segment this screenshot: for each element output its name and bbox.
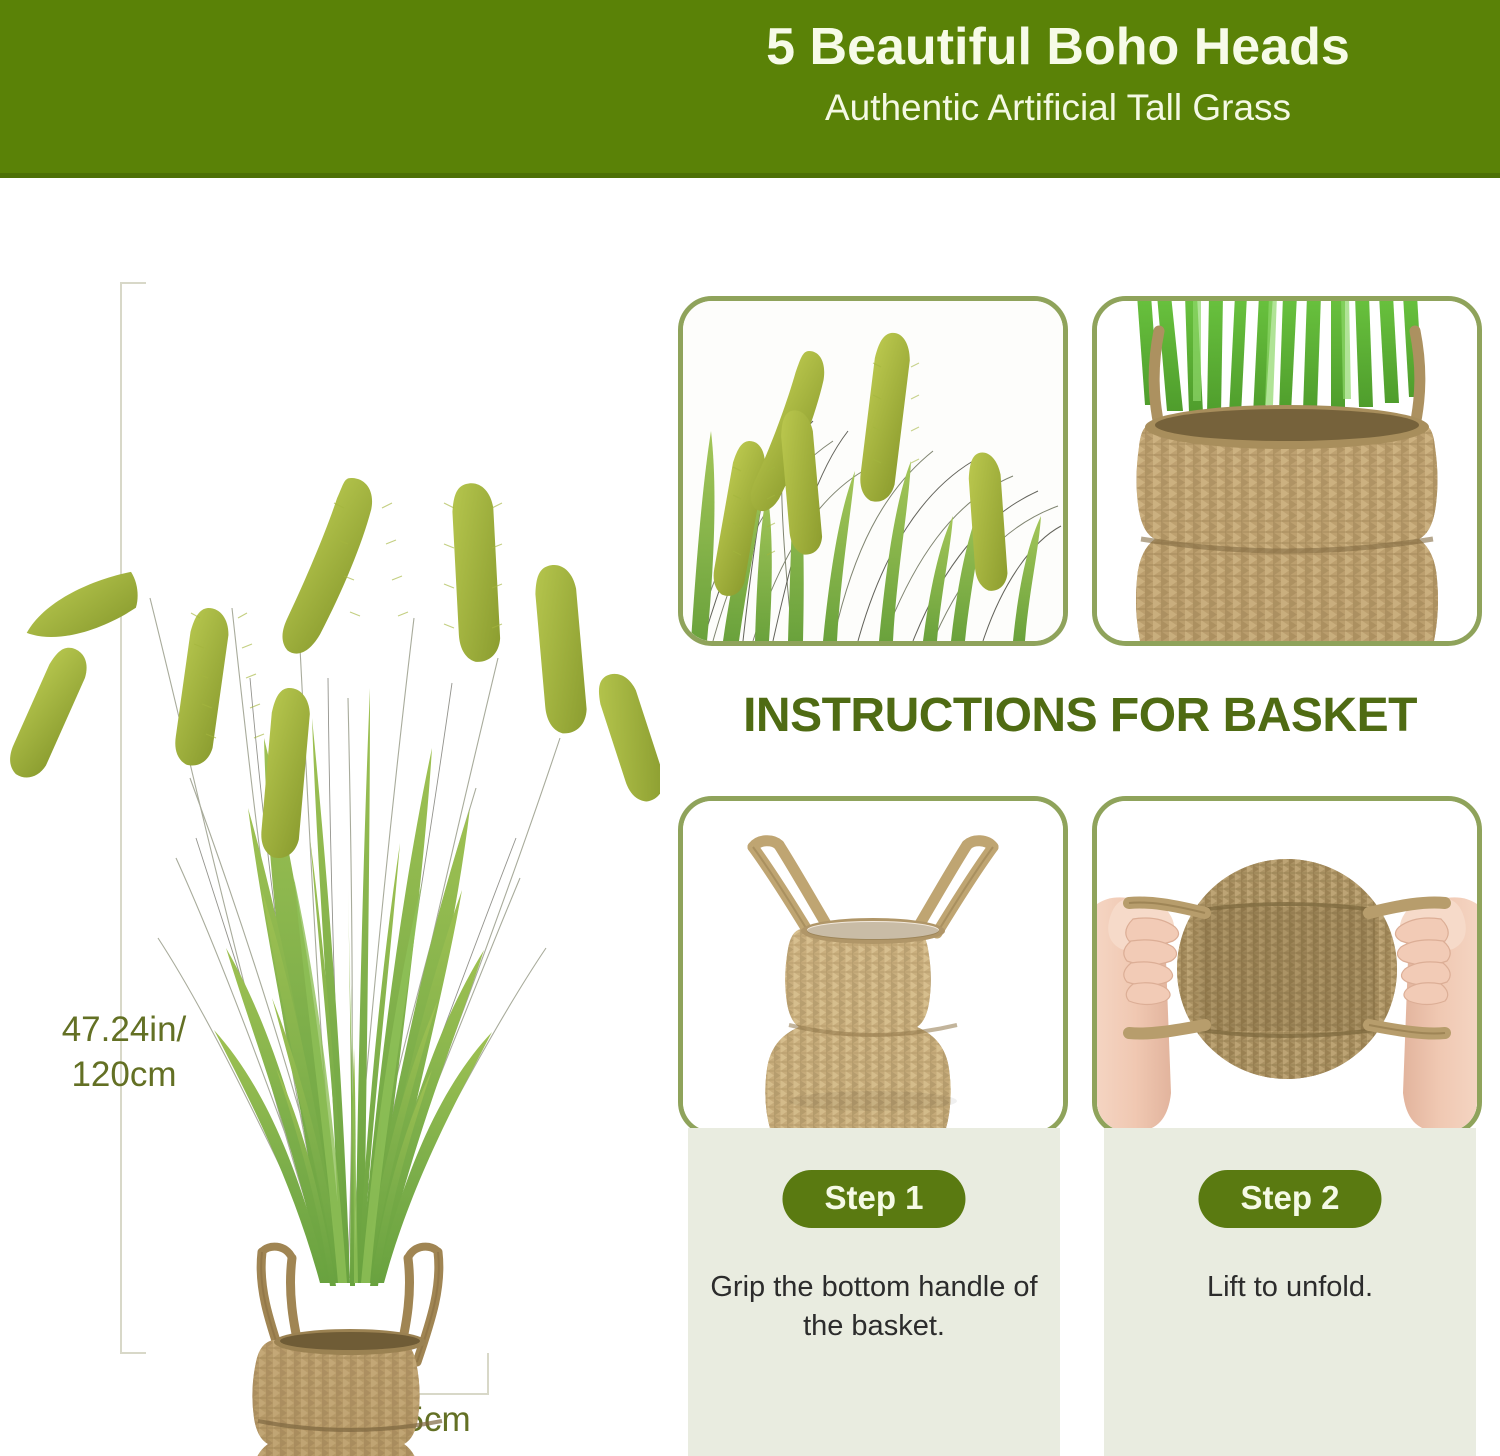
banner-text-group: 5 Beautiful Boho Heads Authentic Artific…	[708, 18, 1408, 130]
header-banner: 5 Beautiful Boho Heads Authentic Artific…	[0, 0, 1500, 178]
product-hero: 47.24in/ 120cm 5.9in/15cm	[0, 178, 660, 1456]
product-image	[0, 178, 660, 1456]
banner-subtitle: Authentic Artificial Tall Grass	[708, 86, 1408, 130]
step-2-caption: Lift to unfold.	[1104, 1268, 1476, 1307]
basket-closeup-image	[1097, 301, 1477, 641]
step-2-image-frame[interactable]	[1092, 796, 1482, 1136]
instructions-heading: INSTRUCTIONS FOR BASKET	[660, 688, 1500, 743]
step-1-caption: Grip the bottom handle of the basket.	[688, 1268, 1060, 1346]
step-1-caption-block: Step 1 Grip the bottom handle of the bas…	[688, 1128, 1060, 1456]
gallery-panel-grass-closeup[interactable]	[678, 296, 1068, 646]
right-column: INSTRUCTIONS FOR BASKET	[660, 178, 1500, 1456]
step-1-image-frame[interactable]	[678, 796, 1068, 1136]
step-2-caption-block: Step 2 Lift to unfold.	[1104, 1128, 1476, 1456]
banner-title: 5 Beautiful Boho Heads	[708, 18, 1408, 78]
gallery-panel-basket-closeup[interactable]	[1092, 296, 1482, 646]
step-1-basket-image	[683, 801, 1063, 1131]
grass-closeup-image	[683, 301, 1063, 641]
step-1-badge: Step 1	[782, 1170, 965, 1228]
step-2-hands-image	[1097, 801, 1477, 1131]
step-2-badge: Step 2	[1198, 1170, 1381, 1228]
